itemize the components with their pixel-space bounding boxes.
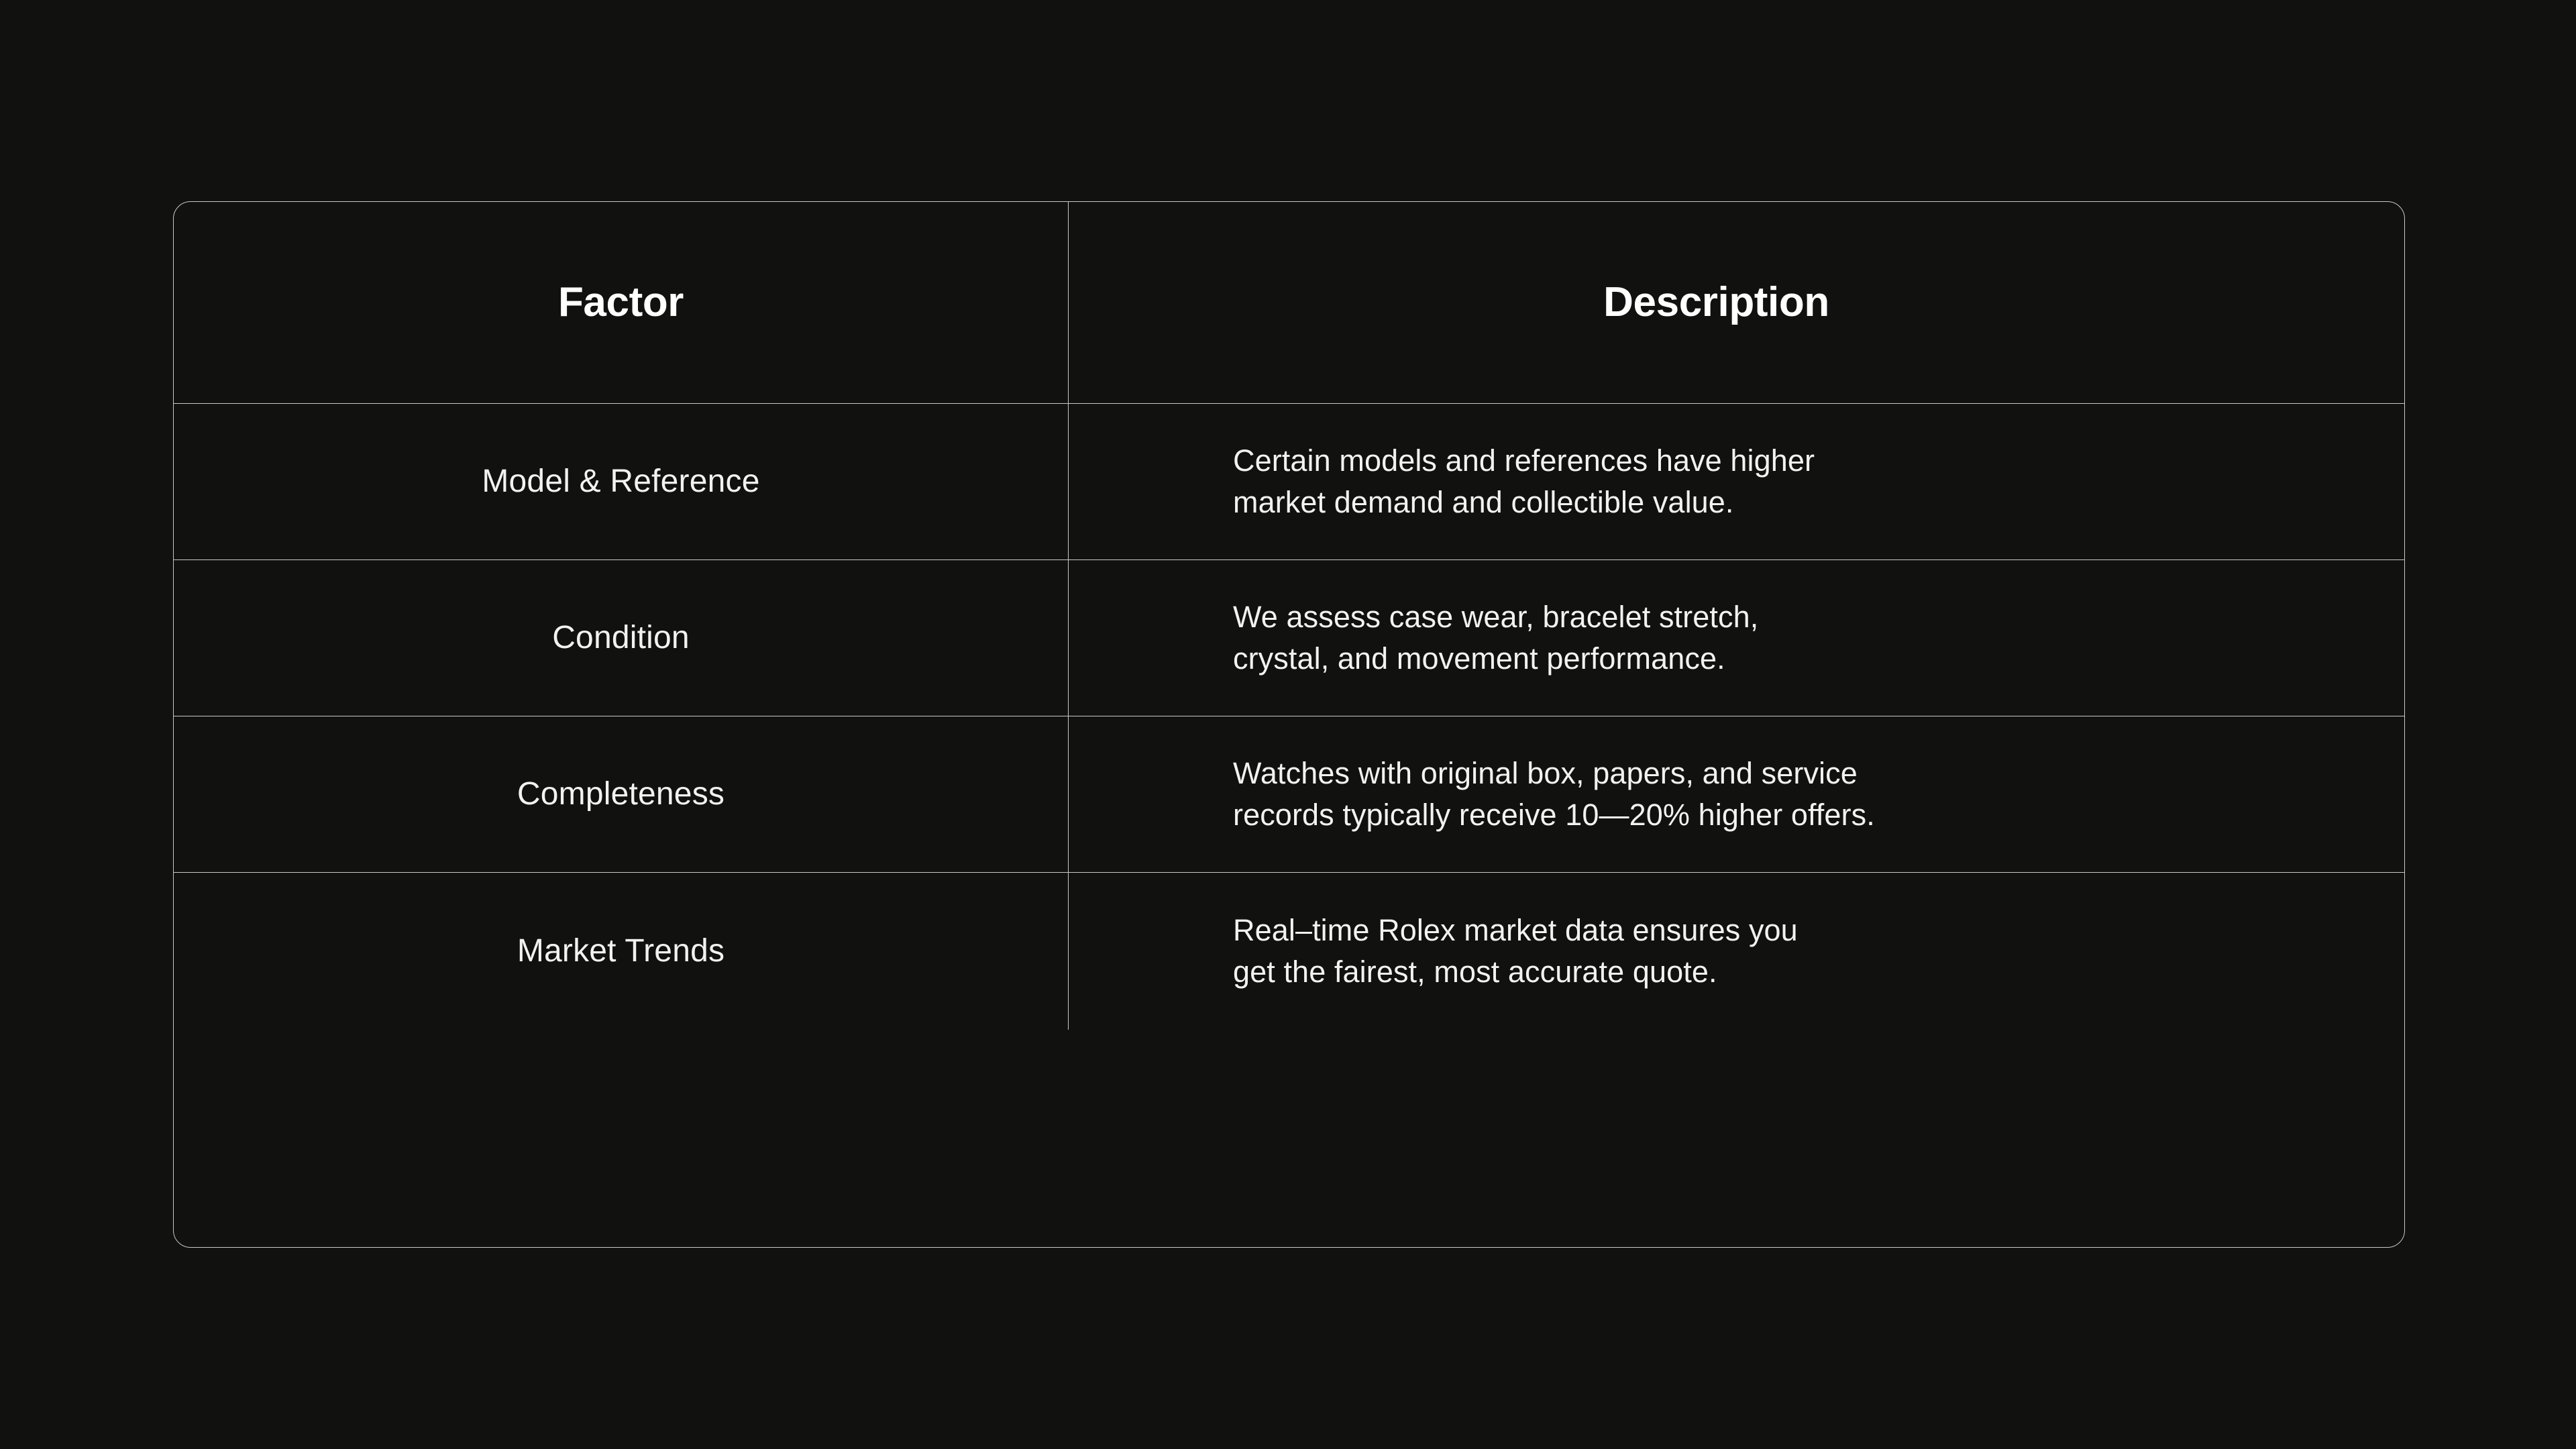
- description-text: Real–time Rolex market data ensures you …: [1233, 910, 1798, 993]
- factors-table: Factor Description Model & Reference Cer…: [173, 201, 2405, 1248]
- table-cell-factor: Completeness: [174, 716, 1069, 872]
- table-cell-description: Real–time Rolex market data ensures you …: [1069, 873, 2404, 1030]
- description-text: Certain models and references have highe…: [1233, 440, 1815, 523]
- column-header-factor: Factor: [558, 282, 684, 323]
- table-header-cell-factor: Factor: [174, 202, 1069, 403]
- table-row: Model & Reference Certain models and ref…: [174, 404, 2404, 560]
- page-canvas: Factor Description Model & Reference Cer…: [0, 0, 2576, 1449]
- factor-label: Completeness: [517, 775, 724, 814]
- table-cell-factor: Market Trends: [174, 873, 1069, 1030]
- table-row: Market Trends Real–time Rolex market dat…: [174, 873, 2404, 1030]
- table-cell-description: We assess case wear, bracelet stretch, c…: [1069, 560, 2404, 716]
- column-header-description: Description: [1603, 282, 1829, 323]
- description-text: We assess case wear, bracelet stretch, c…: [1233, 596, 1758, 680]
- table-header-cell-description: Description: [1069, 202, 2404, 403]
- table-header-row: Factor Description: [174, 202, 2404, 404]
- table-cell-description: Watches with original box, papers, and s…: [1069, 716, 2404, 872]
- table-cell-description: Certain models and references have highe…: [1069, 404, 2404, 559]
- factor-label: Model & Reference: [482, 462, 759, 501]
- table-cell-factor: Condition: [174, 560, 1069, 716]
- factor-label: Condition: [552, 619, 690, 657]
- description-text: Watches with original box, papers, and s…: [1233, 753, 1875, 836]
- table-row: Completeness Watches with original box, …: [174, 716, 2404, 873]
- table-cell-factor: Model & Reference: [174, 404, 1069, 559]
- table-row: Condition We assess case wear, bracelet …: [174, 560, 2404, 716]
- factor-label: Market Trends: [517, 932, 724, 971]
